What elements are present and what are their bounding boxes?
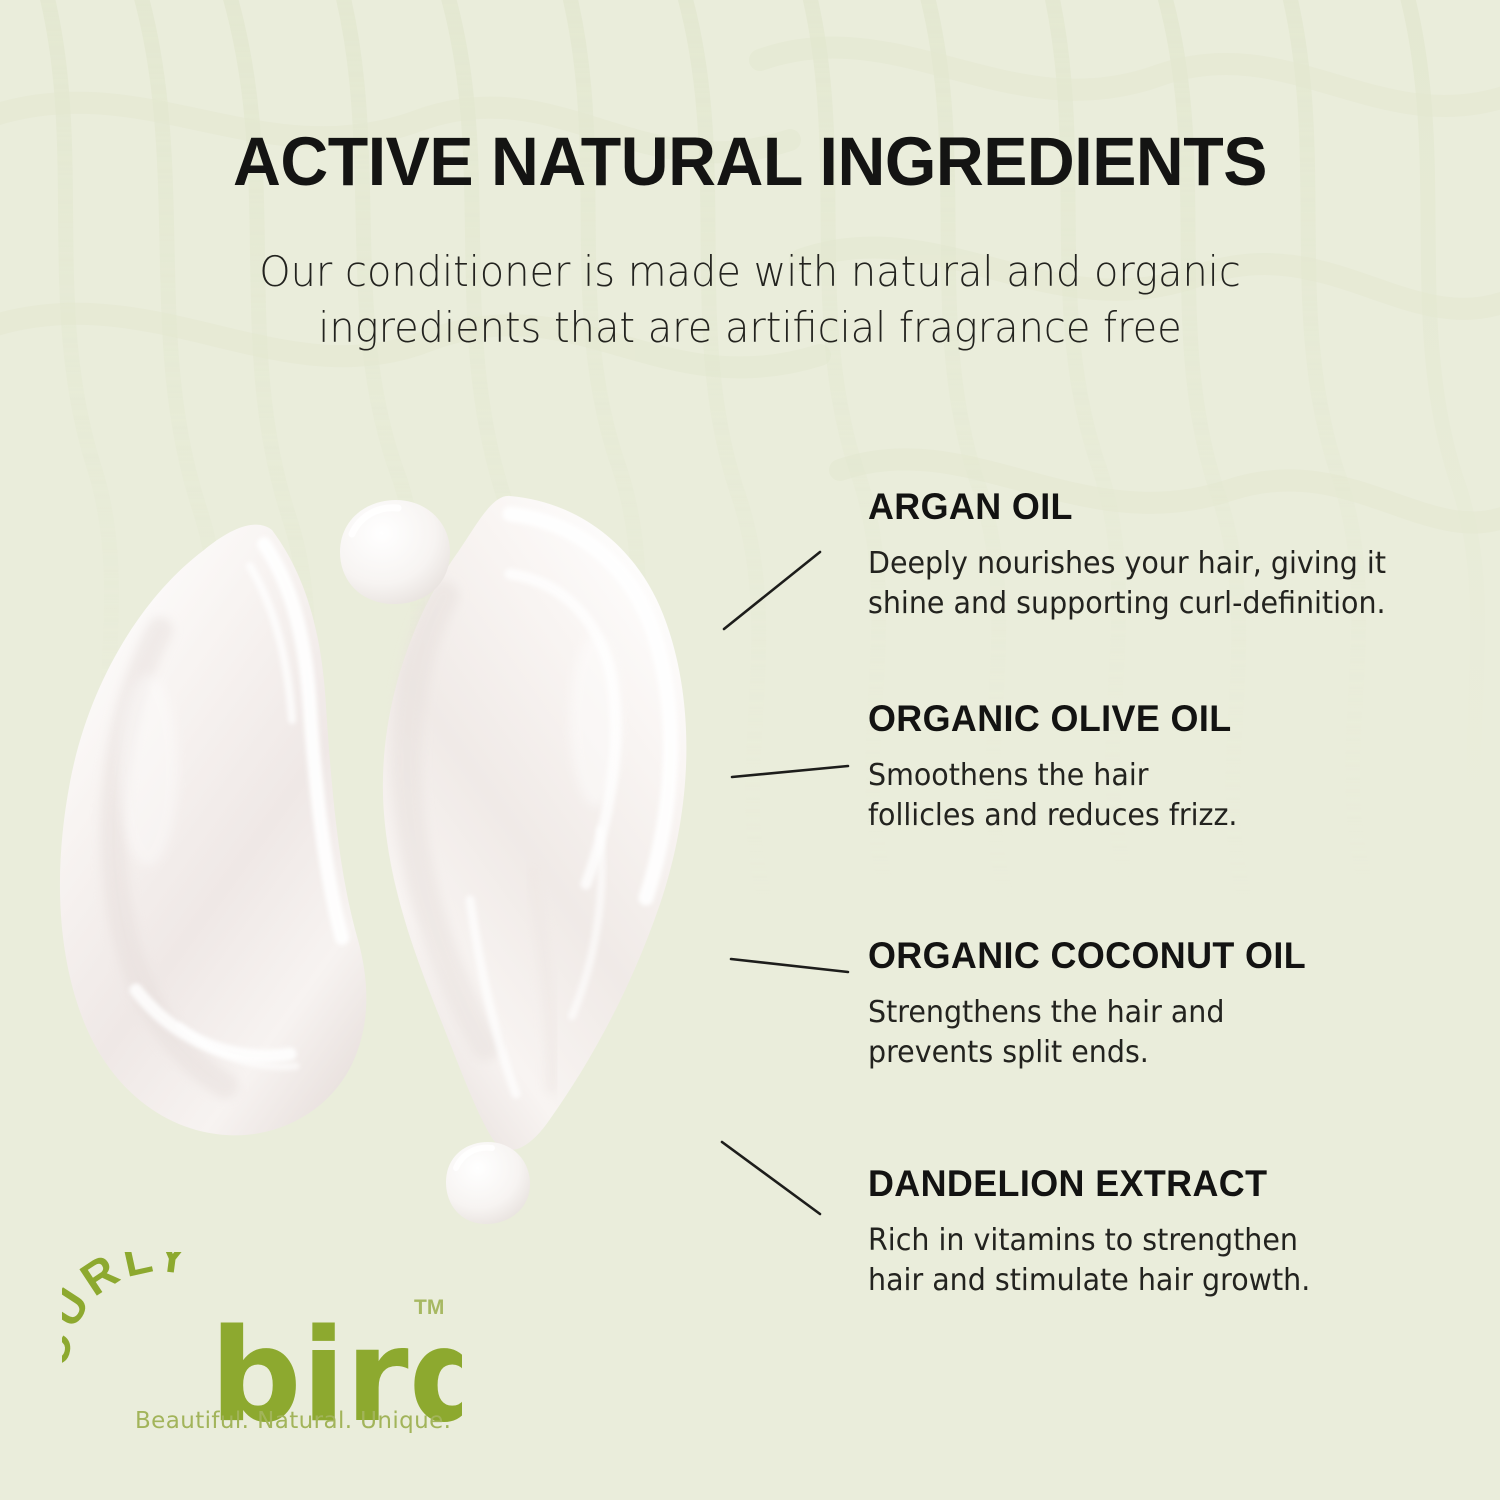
ingredient-dandelion-extract: DANDELION EXTRACT Rich in vitamins to st…: [868, 1163, 1468, 1300]
ingredient-desc-line-1: Strengthens the hair and: [868, 993, 1438, 1033]
brand-logo[interactable]: CURLY bird TM: [62, 1252, 462, 1467]
logo-trademark: TM: [414, 1296, 444, 1319]
cream-swatch-left: [60, 525, 366, 1136]
ingredient-desc-line-2: hair and stimulate hair growth.: [868, 1261, 1438, 1301]
ingredient-argan-oil: ARGAN OIL Deeply nourishes your hair, gi…: [868, 486, 1468, 623]
ingredient-desc-line-1: Deeply nourishes your hair, giving it: [868, 544, 1438, 584]
ingredient-desc-line-1: Smoothens the hair: [868, 756, 1438, 796]
ingredient-name: ARGAN OIL: [868, 486, 1450, 528]
ingredient-organic-olive-oil: ORGANIC OLIVE OIL Smoothens the hair fol…: [868, 698, 1468, 835]
ingredient-desc-line-2: prevents split ends.: [868, 1033, 1438, 1073]
ingredient-desc-line-2: shine and supporting curl-definition.: [868, 584, 1438, 624]
page-subtitle: Our conditioner is made with natural and…: [180, 244, 1320, 356]
cream-droplet-bottom: [446, 1142, 530, 1224]
product-cream-artwork: [40, 470, 760, 1230]
ingredient-description: Smoothens the hair follicles and reduces…: [868, 756, 1438, 835]
logo-tagline: Beautiful. Natural. Unique.: [135, 1408, 451, 1434]
ingredient-name: DANDELION EXTRACT: [868, 1163, 1450, 1205]
cream-droplet-top: [340, 500, 450, 604]
ingredient-desc-line-1: Rich in vitamins to strengthen: [868, 1221, 1438, 1261]
ingredient-description: Deeply nourishes your hair, giving it sh…: [868, 544, 1438, 623]
ingredient-name: ORGANIC OLIVE OIL: [868, 698, 1450, 740]
ingredient-description: Rich in vitamins to strengthen hair and …: [868, 1221, 1438, 1300]
subtitle-line-1: Our conditioner is made with natural and…: [180, 244, 1320, 300]
logo-arch-text: CURLY: [62, 1252, 196, 1370]
ingredient-description: Strengthens the hair and prevents split …: [868, 993, 1438, 1072]
subtitle-line-2: ingredients that are artificial fragranc…: [180, 300, 1320, 356]
infographic-canvas: ACTIVE NATURAL INGREDIENTS Our condition…: [0, 0, 1500, 1500]
ingredient-desc-line-2: follicles and reduces frizz.: [868, 796, 1438, 836]
ingredient-name: ORGANIC COCONUT OIL: [868, 935, 1450, 977]
ingredient-organic-coconut-oil: ORGANIC COCONUT OIL Strengthens the hair…: [868, 935, 1468, 1072]
page-title: ACTIVE NATURAL INGREDIENTS: [30, 122, 1470, 201]
